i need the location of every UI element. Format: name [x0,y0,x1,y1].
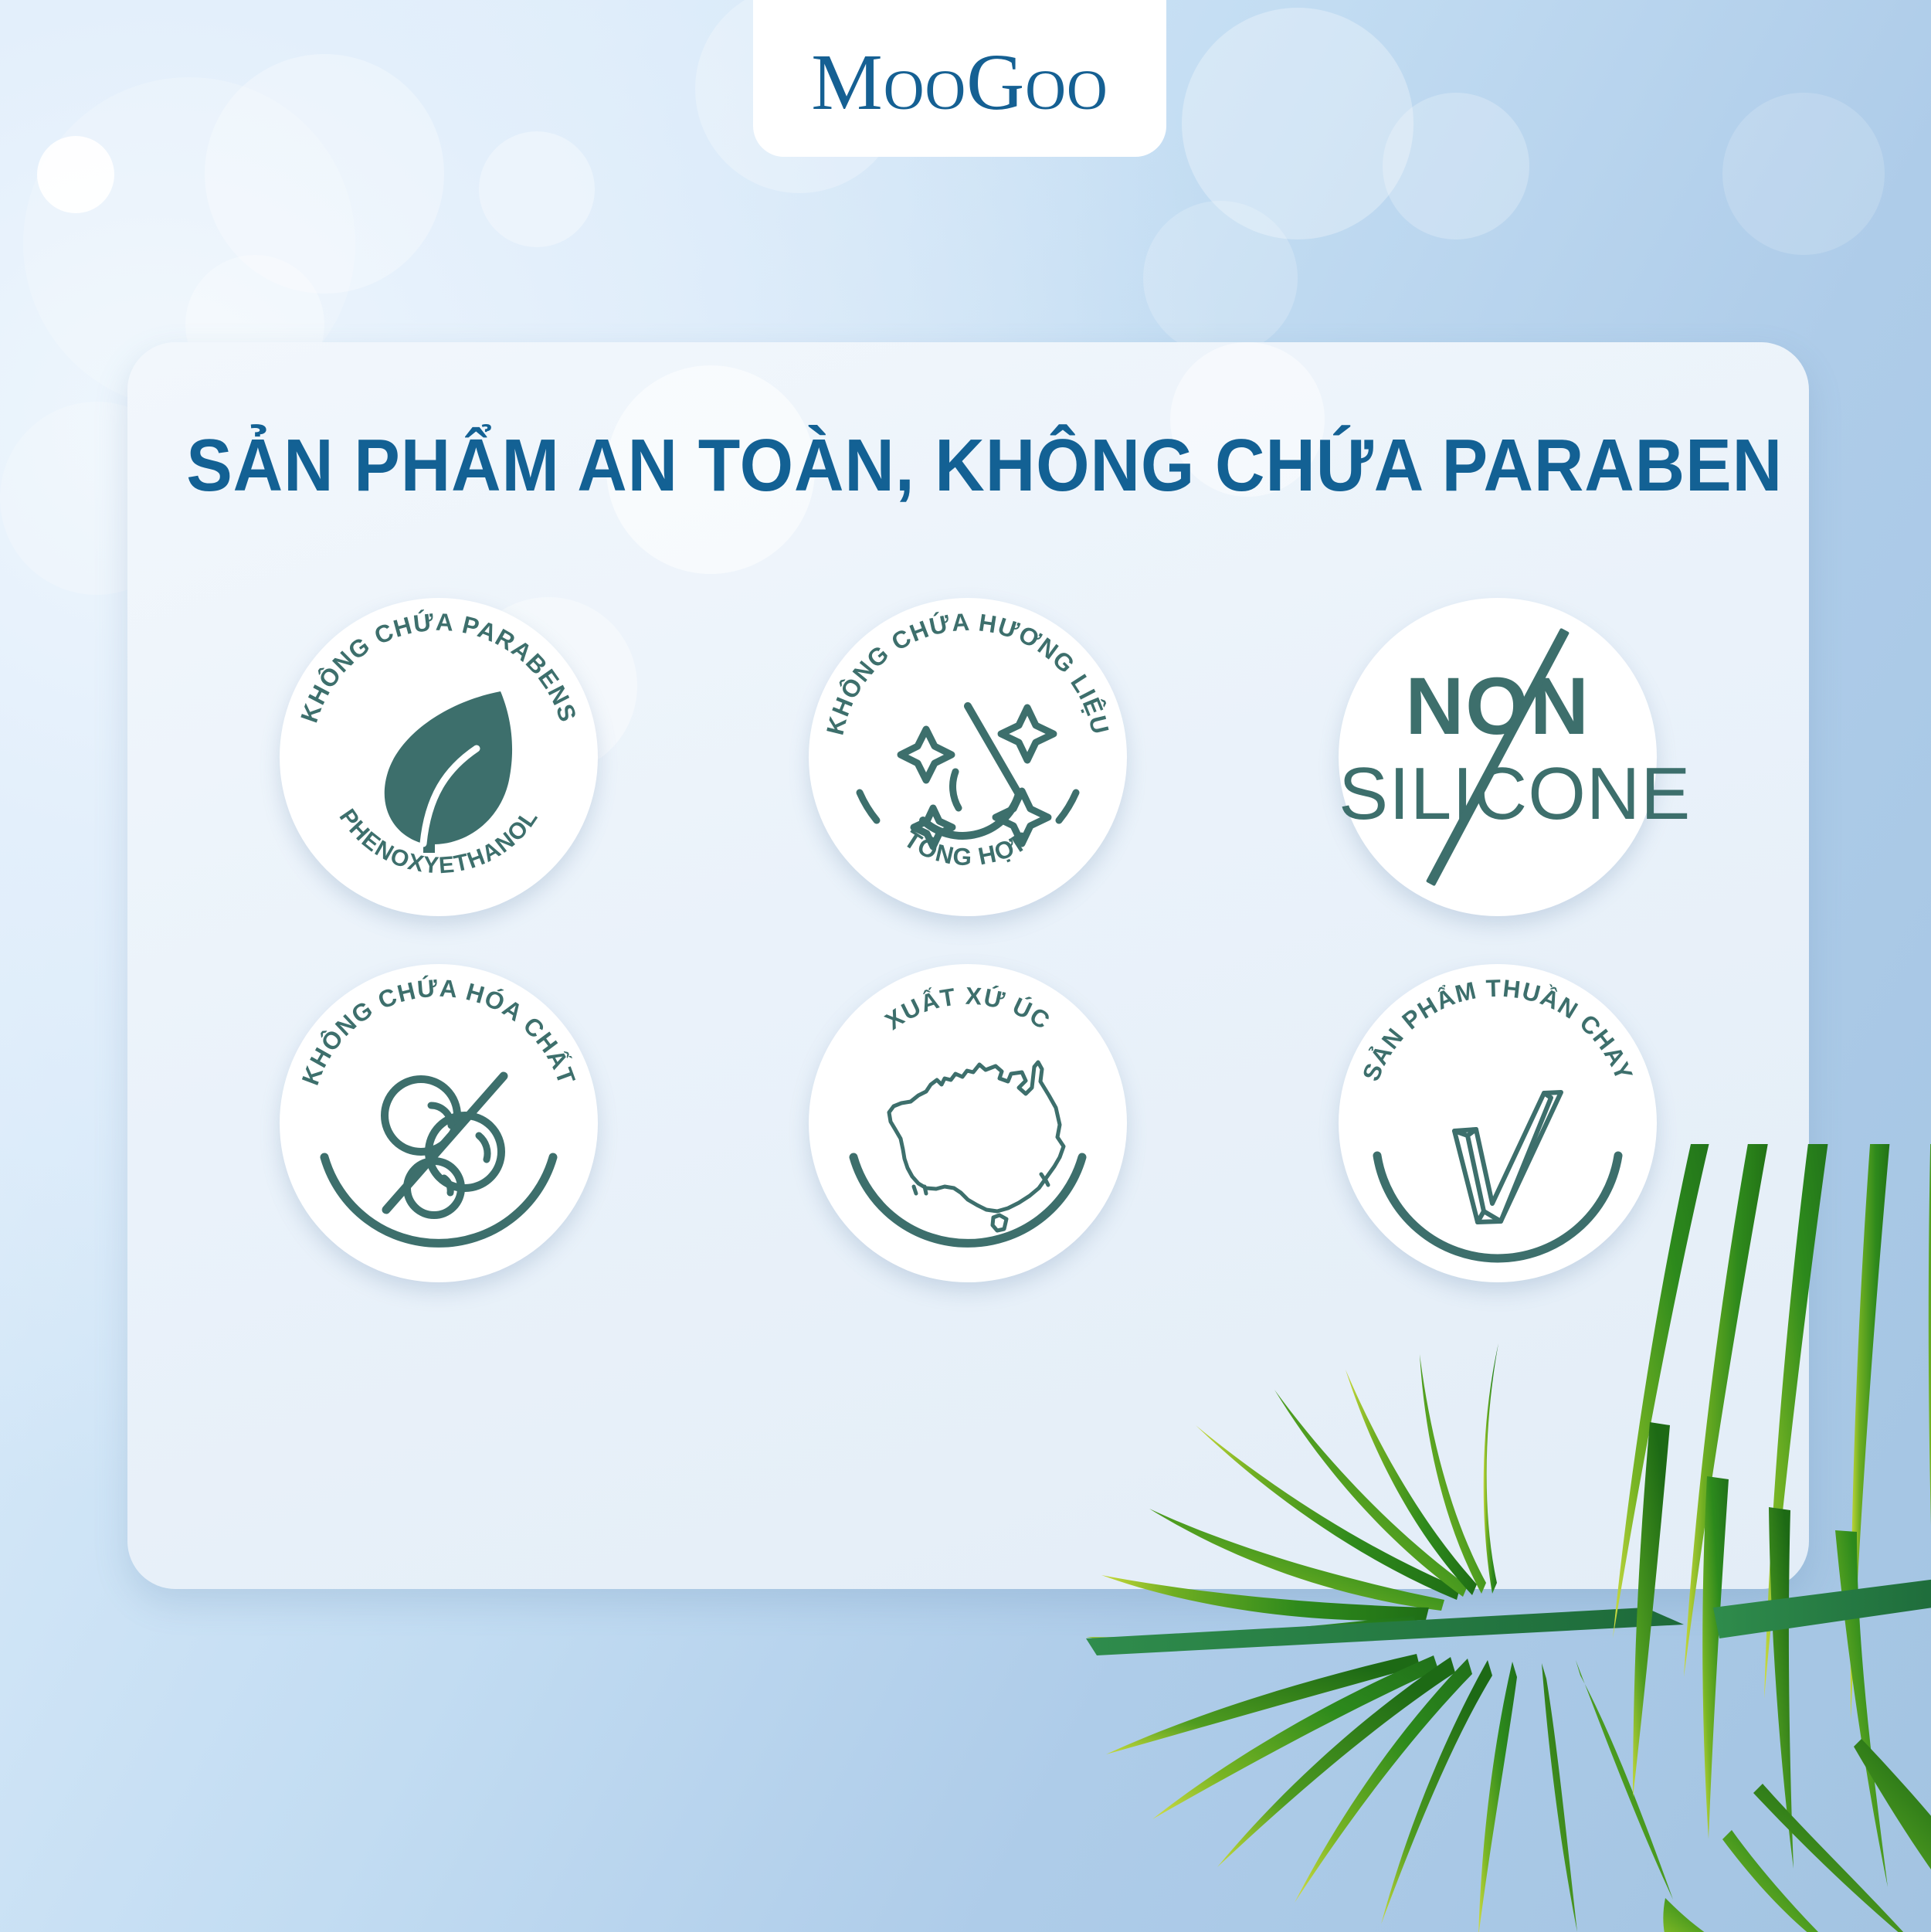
no-chemicals-bubbles-icon [385,1076,504,1215]
badge-line1-label: NON [1339,666,1657,747]
australia-map-icon [889,1062,1064,1231]
badge-no-synthetic-fragrance-graphic: KHÔNG CHỨA HƯƠNG LIỆU TỔNG HỢP [809,598,1127,916]
feature-card: SẢN PHẨM AN TOÀN, KHÔNG CHỨA PARABEN KHÔ… [127,342,1809,1589]
badge-made-in-australia[interactable]: XUẤT XỨ ÚC [809,964,1127,1282]
badge-non-silicone[interactable]: NON SILICONE [1339,598,1657,916]
badge-no-chemicals[interactable]: KHÔNG CHỨA HÓA CHẤT [280,964,598,1282]
badge-no-parabens-graphic: KHÔNG CHỨA PARABENS PHENOXYETHANOL [280,598,598,916]
arc-dash-right [1059,793,1076,820]
page-title: SẢN PHẨM AN TOÀN, KHÔNG CHỨA PARABEN [186,423,1750,508]
badge-made-in-australia-graphic: XUẤT XỨ ÚC [809,964,1127,1282]
leaf-icon [385,691,512,853]
badge-line2-label: SILICONE [1339,757,1657,831]
brand-logo-plate: MooGoo [753,0,1166,157]
badge-top-label: SẢN PHẨM THUẦN CHAY [1357,974,1639,1085]
bottom-arc [324,1157,553,1243]
badge-top-label: XUẤT XỨ ÚC [881,982,1057,1035]
badge-grid: KHÔNG CHỨA PARABENS PHENOXYETHANOL [174,574,1763,1306]
checkmark-3d-icon [1454,1092,1561,1222]
badge-vegan-graphic: SẢN PHẨM THUẦN CHAY [1339,964,1657,1282]
badge-vegan[interactable]: SẢN PHẨM THUẦN CHAY [1339,964,1657,1282]
badge-top-label: KHÔNG CHỨA PARABENS [295,608,582,726]
arc-dash-left [860,793,877,820]
brand-logo-text: MooGoo [811,42,1108,123]
badge-no-chemicals-graphic: KHÔNG CHỨA HÓA CHẤT [280,964,598,1282]
badge-top-label: KHÔNG CHỨA HÓA CHẤT [296,974,581,1089]
badge-top-label: KHÔNG CHỨA HƯƠNG LIỆU [821,608,1115,738]
bottom-arc [1377,1156,1618,1258]
badge-no-parabens[interactable]: KHÔNG CHỨA PARABENS PHENOXYETHANOL [280,598,598,916]
badge-no-synthetic-fragrance[interactable]: KHÔNG CHỨA HƯƠNG LIỆU TỔNG HỢP [809,598,1127,916]
